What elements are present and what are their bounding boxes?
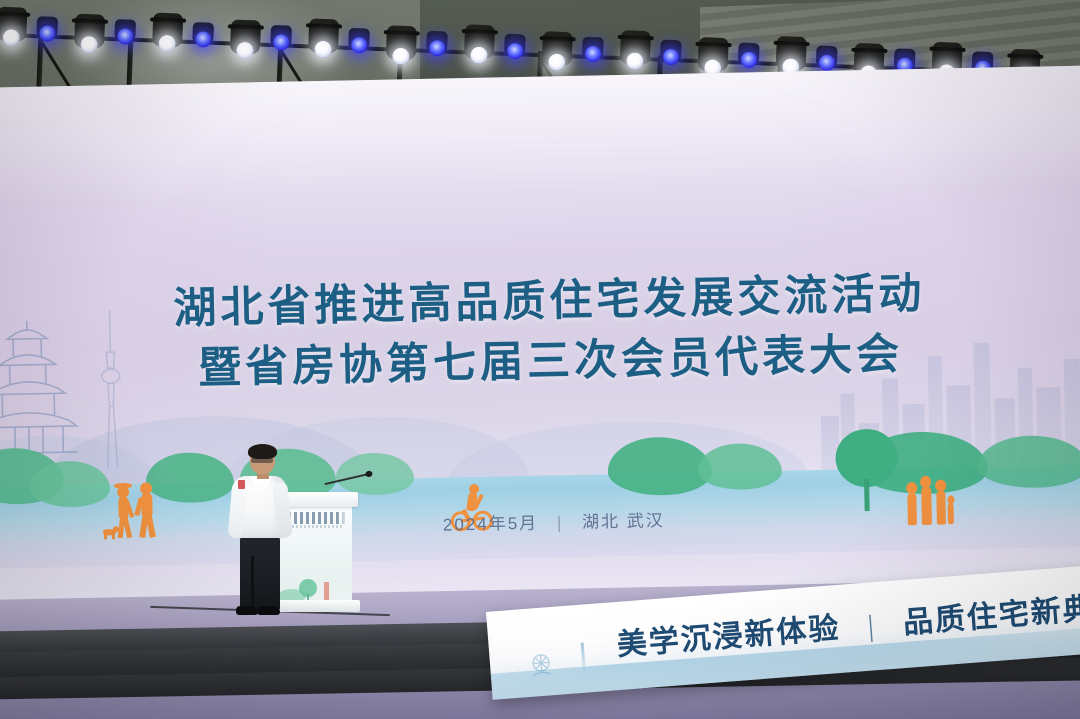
screen-tint-top [0,65,1080,208]
spotlight-yoke [306,23,342,28]
speaker-shoe-right [257,606,280,615]
spotlight-yoke [851,48,887,53]
spotlight-yoke [540,36,576,41]
spotlight-yoke [0,12,30,17]
blue-par-light [660,40,682,63]
speaker-person [232,446,288,618]
speaker-leg-split [251,556,254,610]
stage-spotlight [620,30,651,65]
blue-par-light [192,22,214,45]
stage-spotlight [386,25,417,60]
spotlight-yoke [150,17,186,22]
led-screen: 湖北省推进高品质住宅发展交流活动 暨省房协第七届三次会员代表大会 2024年5月… [0,65,1080,633]
microphone [324,473,369,485]
blue-par-light [270,25,292,48]
spotlight-yoke [228,24,264,29]
event-date: 2024年5月 [443,514,539,535]
banner-emblem-icon [523,647,560,684]
event-title: 湖北省推进高品质住宅发展交流活动 暨省房协第七届三次会员代表大会 [0,261,1080,404]
blue-par-light [36,16,58,39]
spotlight-yoke [462,29,498,34]
stage-scene: 湖北省推进高品质住宅发展交流活动 暨省房协第七届三次会员代表大会 2024年5月… [0,0,1080,719]
stage-spotlight [776,36,807,71]
blue-par-light [816,45,838,68]
blue-par-light [426,31,448,54]
stage-spotlight [464,24,495,59]
stage-spotlight [152,13,183,48]
speaker-trousers [240,536,280,610]
spotlight-yoke [384,30,420,35]
speaker-shoe-left [236,606,258,615]
event-location: 湖北 武汉 [582,511,665,532]
stage-spotlight [230,19,261,54]
blue-par-light [894,48,916,71]
spotlight-yoke [774,41,810,46]
spotlight-yoke [695,42,731,47]
spotlight-yoke [1007,54,1043,59]
stage-spotlight [698,37,729,72]
blue-par-light [348,28,370,51]
stage-spotlight [308,18,339,53]
speaker-hair [248,444,277,459]
blue-par-light [582,37,604,60]
stage-spotlight [74,14,105,49]
spotlight-yoke [72,18,108,23]
spotlight-yoke [618,35,654,40]
speaker-badge [238,480,245,489]
spotlight-yoke [929,47,965,52]
stage-spotlight [0,7,27,42]
blue-par-light [738,42,760,65]
meta-separator: | [557,513,564,532]
stage-spotlight [542,31,573,66]
blue-par-light [504,34,526,57]
blue-par-light [114,19,136,42]
banner-slogan-separator: | [866,609,877,643]
